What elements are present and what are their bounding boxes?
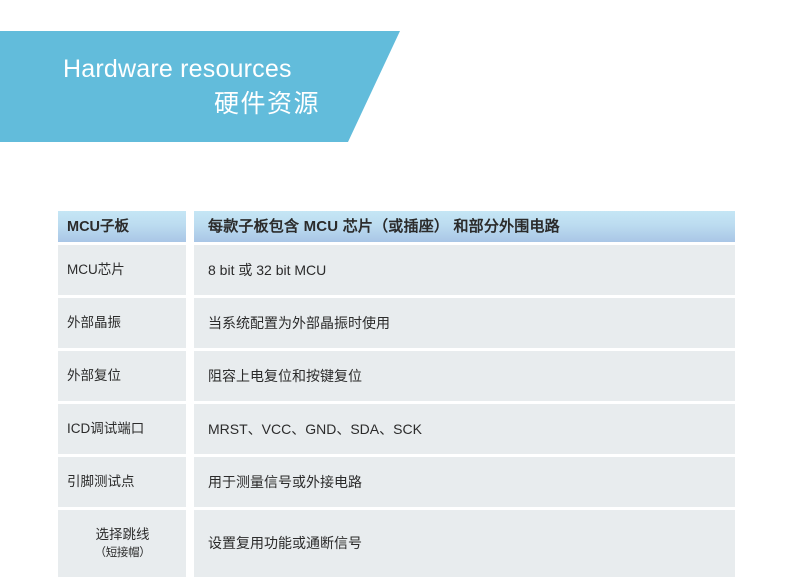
table-header-row: MCU子板 每款子板包含 MCU 芯片（或插座） 和部分外围电路 [58,211,735,245]
row-label-mcu-chip: MCU芯片 [58,245,194,298]
row-label-select-jumper-sub: （短接帽） [95,544,151,563]
row-label-external-crystal: 外部晶振 [58,298,194,351]
table-row: 外部晶振 当系统配置为外部晶振时使用 [58,298,735,351]
header-cell-description: 每款子板包含 MCU 芯片（或插座） 和部分外围电路 [194,211,735,245]
table-row: 选择跳线 （短接帽） 设置复用功能或通断信号 [58,510,735,577]
row-desc-icd-debug-port: MRST、VCC、GND、SDA、SCK [194,404,735,457]
row-label-external-reset: 外部复位 [58,351,194,404]
row-desc-external-reset: 阻容上电复位和按键复位 [194,351,735,404]
row-label-select-jumper: 选择跳线 （短接帽） [58,510,194,577]
banner-title-english: Hardware resources [63,52,322,86]
row-label-icd-debug-port: ICD调试端口 [58,404,194,457]
hardware-resources-banner: Hardware resources 硬件资源 [0,31,400,142]
banner-title-chinese: 硬件资源 [63,86,322,122]
table-row: MCU芯片 8 bit 或 32 bit MCU [58,245,735,298]
table-row: 引脚测试点 用于测量信号或外接电路 [58,457,735,510]
mcu-daughterboard-resource-table: MCU子板 每款子板包含 MCU 芯片（或插座） 和部分外围电路 MCU芯片 8… [58,211,735,577]
table-body: MCU子板 每款子板包含 MCU 芯片（或插座） 和部分外围电路 MCU芯片 8… [58,211,735,577]
row-desc-select-jumper: 设置复用功能或通断信号 [194,510,735,577]
row-label-pin-test-point: 引脚测试点 [58,457,194,510]
row-label-select-jumper-main: 选择跳线 [96,525,150,544]
row-desc-pin-test-point: 用于测量信号或外接电路 [194,457,735,510]
table-row: ICD调试端口 MRST、VCC、GND、SDA、SCK [58,404,735,457]
row-desc-mcu-chip: 8 bit 或 32 bit MCU [194,245,735,298]
banner-text-group: Hardware resources 硬件资源 [0,31,322,142]
header-cell-category: MCU子板 [58,211,194,245]
table-row: 外部复位 阻容上电复位和按键复位 [58,351,735,404]
row-desc-external-crystal: 当系统配置为外部晶振时使用 [194,298,735,351]
